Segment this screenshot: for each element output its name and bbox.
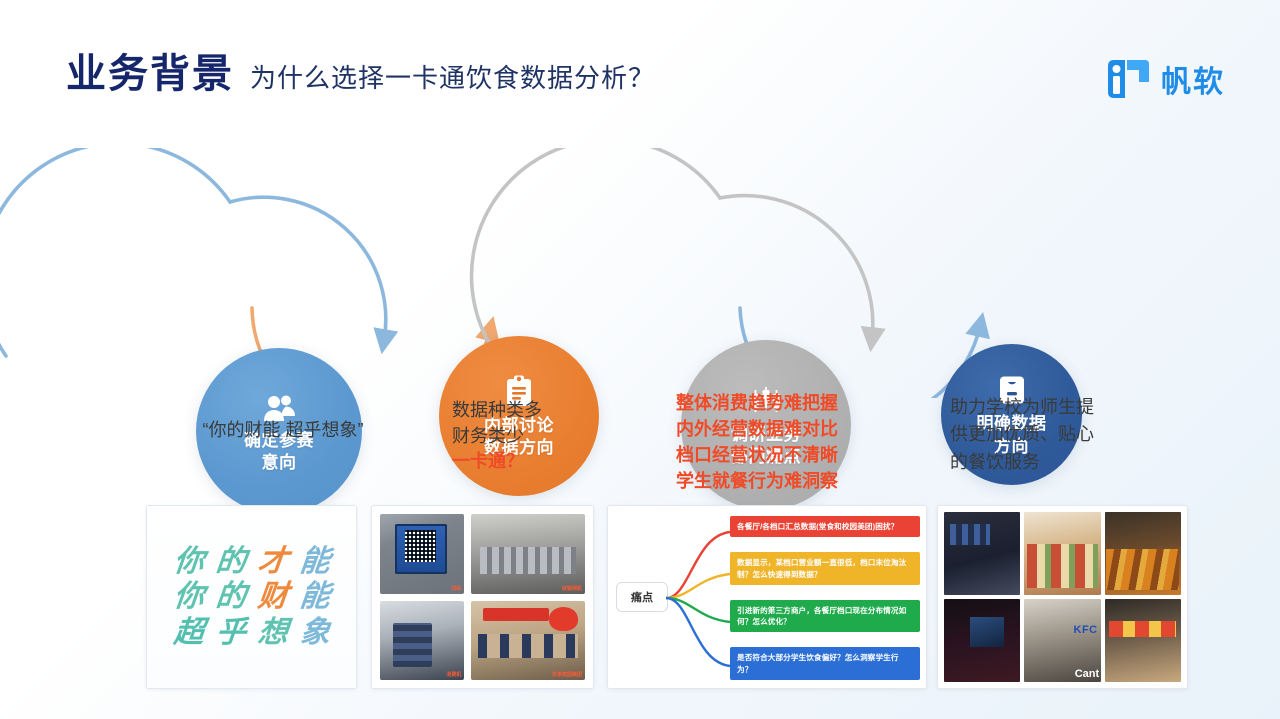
turnstile-gate-photo: 收银闸机 [471,514,585,594]
calligraphy-row: 超 乎 想 象 [174,617,330,649]
themed-dining-room-photo [944,599,1020,682]
pain-point-mindmap: 痛点 各餐厅/各档口汇总数据(堂食和校园美团)困扰？ 数据显示，某档口营业额一直… [608,506,926,688]
canteen-collage-panel: KFC Cant [937,505,1188,689]
caption-line: “你的财能 超乎想象” [168,418,398,444]
evidence-panels: 你 的 才 能 你 的 财 能 超 乎 想 象 扫码 [0,505,1280,693]
food-stalls-photo [1105,599,1181,682]
photo-tag: 收银闸机 [562,585,582,592]
calligraphy-char: 乎 [214,617,247,649]
arrow-step1-to-step2-path [0,148,386,356]
title-main: 业务背景 [66,54,234,94]
caption-line-highlight: 档口经营状况不清晰 [676,442,906,468]
photo-tag: 乐享校园美团 [552,671,582,678]
caption-step-4: 助力学校为师生提 供更加优质、贴心 的餐饮服务 [950,394,1150,476]
buffet-trays-photo [1024,512,1100,595]
calligraphy-poster-panel: 你 的 才 能 你 的 财 能 超 乎 想 象 [146,505,357,689]
hall-badge [549,607,579,631]
calligraphy-char: 的 [214,546,247,578]
logo-text: 帆软 [1161,57,1225,101]
terminal-photo-grid: 扫码 收银闸机 消费机 乐享校园美团 [372,506,593,688]
qr-code-kiosk-photo: 扫码 [380,514,464,594]
cooked-food-display-photo [1105,512,1181,595]
caption-line-highlight: 内外经营数据难对比 [676,416,906,442]
process-flow-diagram: 确定参赛意向 内部讨论数据方向 [0,148,1280,398]
campus-canteen-photo-collage: KFC Cant [938,506,1187,688]
arrow-step3-to-step4-path [472,148,873,354]
kfc-sign-text: KFC [1074,624,1098,636]
mindmap-root-node[interactable]: 痛点 [616,582,668,612]
caption-step-3: 整体消费趋势难把握 内外经营数据难对比 档口经营状况不清晰 学生就餐行为难洞察 [676,390,906,494]
mindmap-branch-list: 各餐厅/各档口汇总数据(堂食和校园美团)困扰？ 数据显示，某档口营业额一直很低，… [730,516,920,680]
caption-line-highlight: 一卡通？ [452,449,642,475]
brand-logo: 帆软 [1105,56,1225,102]
caption-line: 财务类少 [452,424,642,450]
mindmap-branch-3[interactable]: 引进新的第三方商户，各餐厅档口现在分布情况如何？怎么优化？ [730,600,920,633]
calligraphy-poster: 你 的 才 能 你 的 财 能 超 乎 想 象 [147,506,356,688]
calligraphy-char: 超 [172,617,205,649]
calligraphy-row: 你 的 财 能 [174,581,330,613]
calligraphy-char: 财 [256,581,289,613]
photo-tag: 扫码 [451,585,461,592]
caption-line-highlight: 整体消费趋势难把握 [676,390,906,416]
terminal-photos-panel: 扫码 收银闸机 消费机 乐享校园美团 [371,505,594,689]
caption-line-highlight: 学生就餐行为难洞察 [676,468,906,494]
title-subtitle: 为什么选择一卡通饮食数据分析？ [250,65,655,91]
slide-header: 业务背景 为什么选择一卡通饮食数据分析？ [66,54,1230,114]
calligraphy-char: 你 [172,546,205,578]
calligraphy-char: 你 [172,581,205,613]
page-title: 业务背景 为什么选择一卡通饮食数据分析？ [66,54,1230,94]
caption-step-1: “你的财能 超乎想象” [168,418,398,444]
caption-step-2: 数据种类多 财务类少 一卡通？ [452,398,642,475]
mindmap-branch-4[interactable]: 是否符合大部分学生饮食偏好？怎么洞察学生行为？ [730,647,920,680]
calligraphy-row: 你 的 才 能 [174,546,330,578]
fanruan-logo-mark-icon [1105,56,1151,102]
photo-tag: 消费机 [446,671,461,678]
caption-line: 数据种类多 [452,398,642,424]
caption-line: 的餐饮服务 [950,449,1150,476]
calligraphy-char: 象 [298,617,331,649]
calligraphy-char: 能 [298,546,331,578]
users-icon [262,388,296,422]
caption-line: 供更加优质、贴心 [950,421,1150,448]
pain-point-mindmap-panel: 痛点 各餐厅/各档口汇总数据(堂食和校园美团)困扰？ 数据显示，某档口营业额一直… [607,505,927,689]
self-service-ordering-hall-photo: 乐享校园美团 [471,601,585,681]
canteen-counter-photo [944,512,1020,595]
calligraphy-char: 想 [256,617,289,649]
calligraphy-char: 能 [298,581,331,613]
caption-line: 助力学校为师生提 [950,394,1150,421]
kfc-storefront-photo: KFC Cant [1024,599,1100,682]
card-reader-keypad-photo: 消费机 [380,601,464,681]
calligraphy-char: 的 [214,581,247,613]
flow-arrows [0,148,1280,398]
mindmap-branch-2[interactable]: 数据显示，某档口营业额一直很低，档口末位淘汰制？怎么快速得到数据？ [730,552,920,585]
calligraphy-char: 才 [256,546,289,578]
mindmap-branch-1[interactable]: 各餐厅/各档口汇总数据(堂食和校园美团)困扰？ [730,516,920,537]
canteen-sign-text: Cant [1075,668,1099,680]
hall-banner [483,608,549,621]
